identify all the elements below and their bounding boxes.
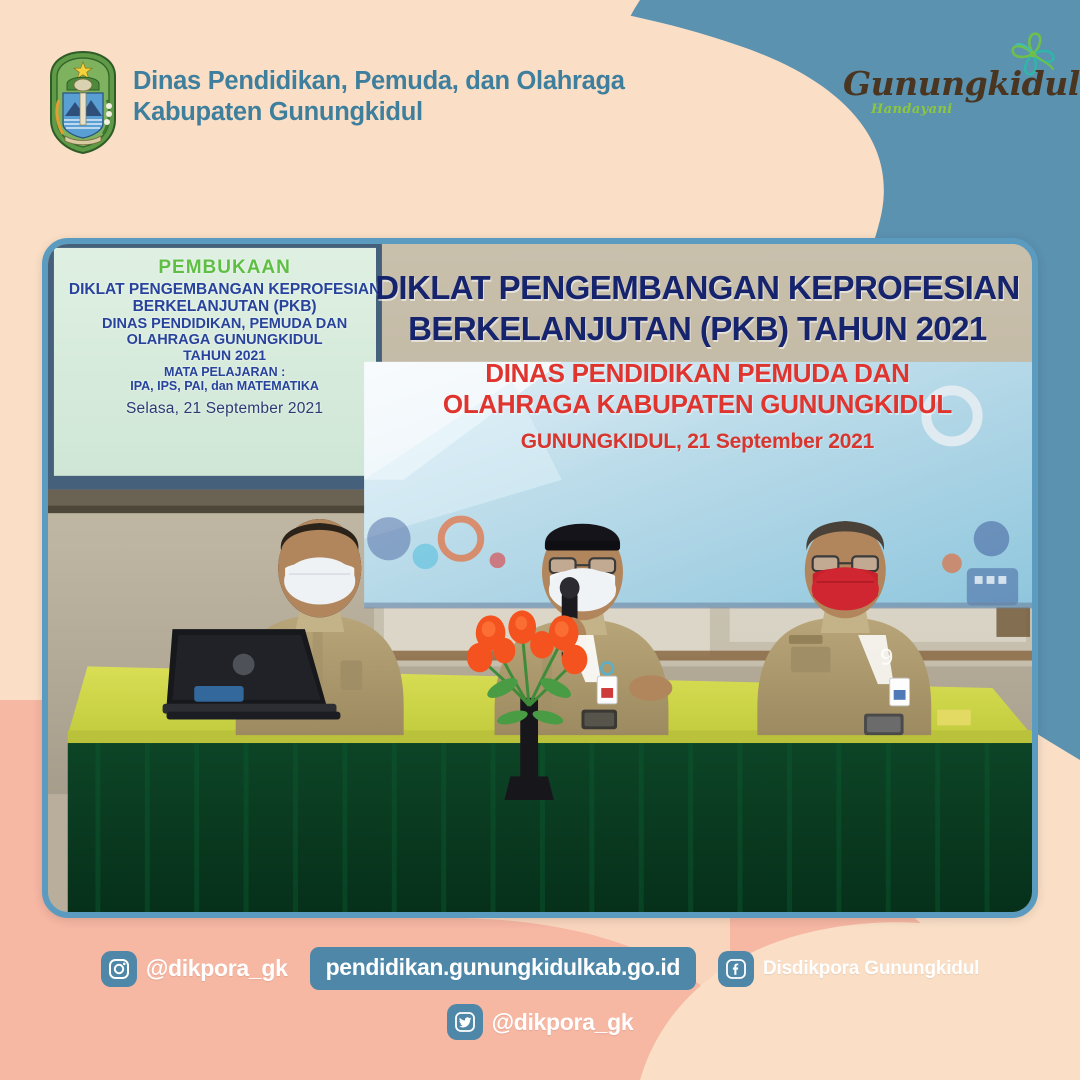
twitter-link[interactable]: @dikpora_gk [447, 1004, 634, 1040]
facebook-glyph [724, 957, 748, 981]
event-photo-card: 9 [42, 238, 1038, 918]
facebook-link[interactable]: Disdikpora Gunungkidul [718, 951, 979, 987]
svg-text:9: 9 [880, 646, 894, 671]
twitter-glyph [453, 1010, 477, 1034]
screen-line-7: IPA, IPS, PAI, dan MATEMATIKA [64, 379, 386, 393]
department-title-line-2: Kabupaten Gunungkidul [133, 97, 753, 128]
brand-tagline-text: Handayani [871, 102, 953, 117]
instagram-icon[interactable] [101, 951, 137, 987]
facebook-icon[interactable] [718, 951, 754, 987]
department-title-line-1: Dinas Pendidikan, Pemuda, dan Olahraga [133, 66, 753, 97]
screen-line-5: TAHUN 2021 [64, 348, 386, 364]
screen-line-3: DINAS PENDIDIKAN, PEMUDA DAN [64, 316, 386, 332]
twitter-icon[interactable] [447, 1004, 483, 1040]
event-photo: 9 [48, 244, 1032, 912]
instagram-glyph [107, 957, 131, 981]
twitter-handle: @dikpora_gk [492, 1009, 634, 1036]
brand-name-text: Gunungkidul [843, 64, 1033, 103]
screen-line-4: OLAHRAGA GUNUNGKIDUL [64, 332, 386, 348]
coat-of-arms-svg [47, 50, 119, 155]
instagram-link[interactable]: @dikpora_gk [101, 951, 288, 987]
banner-line-3: DINAS PENDIDIKAN PEMUDA DAN [363, 360, 1032, 388]
header: Dinas Pendidikan, Pemuda, dan Olahraga K… [0, 0, 1080, 200]
social-row-primary: @dikpora_gk pendidikan.gunungkidulkab.go… [0, 947, 1080, 990]
screen-line-6: MATA PELAJARAN : [64, 365, 386, 379]
coat-of-arms-icon [47, 50, 119, 155]
banner-line-1: DIKLAT PENGEMBANGAN KEPROFESIAN [363, 271, 1032, 306]
projector-screen-text: PEMBUKAAN DIKLAT PENGEMBANGAN KEPROFESIA… [60, 251, 390, 488]
banner-line-4: OLAHRAGA KABUPATEN GUNUNGKIDUL [363, 391, 1032, 419]
screen-title: PEMBUKAAN [64, 257, 386, 278]
banner-line-2: BERKELANJUTAN (PKB) TAHUN 2021 [363, 312, 1032, 347]
header-title-block: Dinas Pendidikan, Pemuda, dan Olahraga K… [133, 66, 753, 128]
backdrop-banner-text: DIKLAT PENGEMBANGAN KEPROFESIAN BERKELAN… [363, 271, 1032, 453]
website-button[interactable]: pendidikan.gunungkidulkab.go.id [310, 947, 696, 990]
poster-canvas: Dinas Pendidikan, Pemuda, dan Olahraga K… [0, 0, 1080, 1080]
facebook-handle: Disdikpora Gunungkidul [763, 958, 979, 980]
gunungkidul-brand-logo: Gunungkidul Handayani [843, 40, 1058, 136]
screen-line-1: DIKLAT PENGEMBANGAN KEPROFESIAN [64, 281, 386, 298]
screen-line-2: BERKELANJUTAN (PKB) [64, 298, 386, 315]
footer-social-bar: @dikpora_gk pendidikan.gunungkidulkab.go… [0, 940, 1080, 1080]
screen-date: Selasa, 21 September 2021 [64, 400, 386, 417]
banner-line-5: GUNUNGKIDUL, 21 September 2021 [363, 431, 1032, 453]
instagram-handle: @dikpora_gk [146, 955, 288, 982]
social-row-secondary: @dikpora_gk [0, 1004, 1080, 1040]
